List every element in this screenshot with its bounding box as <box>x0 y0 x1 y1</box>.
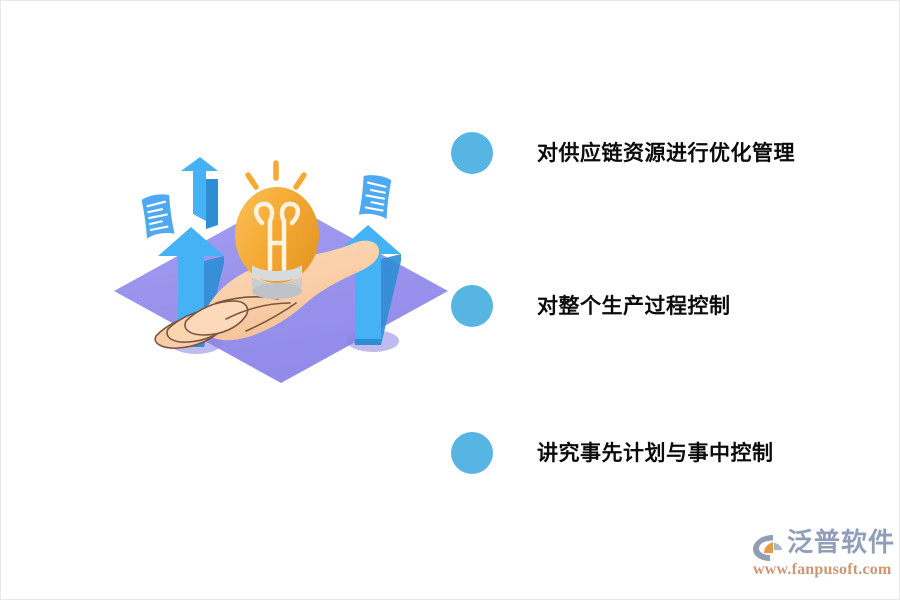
bullet-dot-icon <box>451 132 493 174</box>
arrow-up-back-left <box>181 157 218 229</box>
brand-name: 泛普软件 <box>787 529 895 555</box>
list-item-label: 对整个生产过程控制 <box>537 296 731 317</box>
bullet-dot-icon <box>451 285 493 327</box>
watermark-logo: 泛普软件 www.fanpusoft.com <box>751 527 883 585</box>
light-rays <box>248 163 304 187</box>
infographic-canvas: 对供应链资源进行优化管理 对整个生产过程控制 讲究事先计划与事中控制 泛普软件 … <box>0 0 900 600</box>
document-left <box>141 193 175 239</box>
document-right <box>359 174 392 219</box>
bullet-list: 对供应链资源进行优化管理 对整个生产过程控制 讲究事先计划与事中控制 <box>451 126 851 496</box>
brand-mark-icon <box>751 533 785 563</box>
brand-url: www.fanpusoft.com <box>753 561 892 579</box>
list-item[interactable]: 对整个生产过程控制 <box>451 283 731 329</box>
list-item[interactable]: 讲究事先计划与事中控制 <box>451 430 774 476</box>
list-item[interactable]: 对供应链资源进行优化管理 <box>451 130 795 176</box>
list-item-label: 讲究事先计划与事中控制 <box>537 443 774 464</box>
illustration <box>96 151 466 431</box>
bullet-dot-icon <box>451 432 493 474</box>
list-item-label: 对供应链资源进行优化管理 <box>537 143 795 164</box>
